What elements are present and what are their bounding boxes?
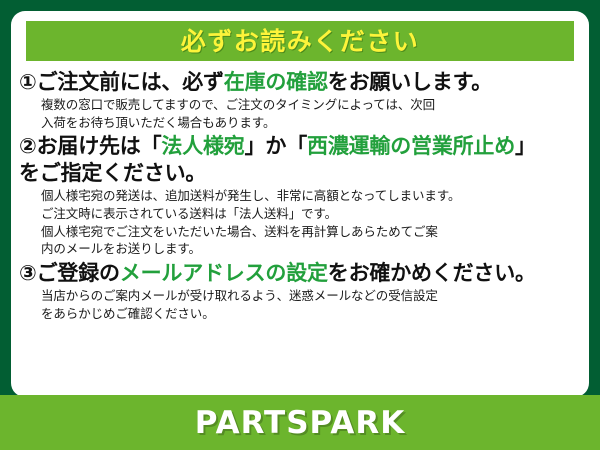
notice-item-2-heading-post: 」 — [515, 134, 536, 158]
notice-item-2-heading: ②お届け先は「法人様宛」か「西濃運輸の営業所止め」 — [19, 133, 581, 160]
notice-item-2-body-line-3: 個人様宅宛でご注文をいただいた場合、送料を再計算しあらためてご案 — [41, 223, 581, 241]
notice-item-3: ③ご登録のメールアドレスの設定をお確かめください。 当店からのご案内メールが受け… — [19, 260, 581, 322]
notice-item-2-body: 個人様宅宛の発送は、追加送料が発生し、非常に高額となってしまいます。 ご注文時に… — [19, 187, 581, 258]
notice-item-3-body-line-2: をあらかじめご確認ください。 — [41, 305, 581, 323]
header-banner: 必ずお読みください — [26, 21, 574, 61]
notice-item-3-body-line-1: 当店からのご案内メールが受け取れるよう、迷惑メールなどの受信設定 — [41, 287, 581, 305]
notice-item-2-body-line-4: 内のメールをお送りします。 — [41, 240, 581, 258]
notice-item-3-heading-pre: ご登録の — [37, 261, 120, 285]
notice-item-1-heading-highlight: 在庫の確認 — [224, 70, 328, 94]
notice-items-list: ①ご注文前には、必ず在庫の確認をお願いします。 複数の窓口で販売してますので、ご… — [11, 65, 589, 397]
notice-item-2-body-line-1: 個人様宅宛の発送は、追加送料が発生し、非常に高額となってしまいます。 — [41, 187, 581, 205]
notice-item-1-heading: ①ご注文前には、必ず在庫の確認をお願いします。 — [19, 69, 581, 96]
notice-card: 必ずお読みください ①ご注文前には、必ず在庫の確認をお願いします。 複数の窓口で… — [0, 0, 600, 450]
notice-item-1-number: ① — [19, 70, 37, 94]
notice-item-2-number: ② — [19, 134, 37, 158]
notice-item-1-heading-pre: ご注文前には、必ず — [37, 70, 224, 94]
notice-item-1-body-line-2: 入荷をお待ち頂いただく場合もあります。 — [41, 114, 581, 132]
notice-item-3-heading: ③ご登録のメールアドレスの設定をお確かめください。 — [19, 260, 581, 287]
notice-item-2-heading-mid: 」か「 — [245, 134, 307, 158]
notice-item-3-heading-post: をお確かめください。 — [328, 261, 536, 285]
notice-item-1-heading-post: をお願いします。 — [328, 70, 492, 94]
notice-item-2-heading-highlight2: 西濃運輸の営業所止め — [307, 134, 515, 158]
notice-item-1: ①ご注文前には、必ず在庫の確認をお願いします。 複数の窓口で販売してますので、ご… — [19, 69, 581, 131]
notice-item-3-number: ③ — [19, 261, 37, 285]
notice-panel: 必ずお読みください ①ご注文前には、必ず在庫の確認をお願いします。 複数の窓口で… — [11, 11, 589, 397]
notice-item-3-body: 当店からのご案内メールが受け取れるよう、迷惑メールなどの受信設定 をあらかじめご… — [19, 287, 581, 323]
notice-item-2-body-line-2: ご注文時に表示されている送料は「法人送料」です。 — [41, 205, 581, 223]
notice-item-3-heading-highlight: メールアドレスの設定 — [120, 261, 328, 285]
page-title: 必ずお読みください — [181, 29, 420, 54]
footer-bar: PARTSPARK — [0, 395, 600, 450]
notice-item-2-heading-line2: をご指定ください。 — [19, 160, 581, 187]
brand-logo: PARTSPARK — [195, 405, 406, 441]
notice-item-1-body: 複数の窓口で販売してますので、ご注文のタイミングによっては、次回 入荷をお待ち頂… — [19, 96, 581, 132]
notice-item-1-body-line-1: 複数の窓口で販売してますので、ご注文のタイミングによっては、次回 — [41, 96, 581, 114]
notice-item-2: ②お届け先は「法人様宛」か「西濃運輸の営業所止め」 をご指定ください。 個人様宅… — [19, 133, 581, 258]
notice-item-2-heading-highlight: 法人様宛 — [161, 134, 244, 158]
notice-item-2-heading-pre: お届け先は「 — [37, 134, 162, 158]
